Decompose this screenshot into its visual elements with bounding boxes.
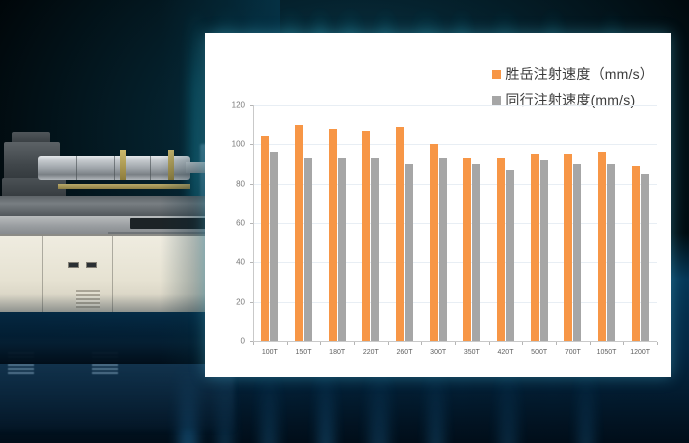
clamp-bolt	[168, 150, 174, 180]
x-tickmark	[421, 342, 422, 345]
x-axis-tick-label: 150T	[296, 349, 312, 356]
x-axis-tick-label: 700T	[565, 349, 581, 356]
y-gridline	[253, 105, 657, 106]
machine-cabinet	[0, 234, 222, 312]
x-axis-tick-label: 1200T	[630, 349, 650, 356]
bar-series-0-260T	[396, 127, 404, 341]
bar-series-1-220T	[371, 158, 379, 341]
bar-series-1-500T	[540, 160, 548, 341]
y-gridline	[253, 184, 657, 185]
x-axis-tick-label: 260T	[397, 349, 413, 356]
x-axis-tick-label: 350T	[464, 349, 480, 356]
bar-series-0-220T	[362, 131, 370, 341]
bar-series-1-260T	[405, 164, 413, 341]
x-tickmark	[657, 342, 658, 345]
x-tickmark	[556, 342, 557, 345]
cabinet-button	[68, 262, 79, 268]
x-tickmark	[354, 342, 355, 345]
x-tickmark	[287, 342, 288, 345]
y-gridline	[253, 223, 657, 224]
x-axis-tick-label: 220T	[363, 349, 379, 356]
x-axis-tick-label: 180T	[329, 349, 345, 356]
y-gridline	[253, 144, 657, 145]
cabinet-button	[86, 262, 97, 268]
x-axis-tick-label: 100T	[262, 349, 278, 356]
y-axis-tick-label: 60	[223, 219, 245, 228]
bar-series-0-500T	[531, 154, 539, 341]
bar-series-1-700T	[573, 164, 581, 341]
deck-tray	[130, 218, 210, 229]
x-tickmark	[253, 342, 254, 345]
y-axis-tick-label: 120	[223, 101, 245, 110]
x-axis-tick-label: 420T	[498, 349, 514, 356]
y-gridline	[253, 262, 657, 263]
y-axis-tick-label: 0	[223, 337, 245, 346]
bar-series-0-1200T	[632, 166, 640, 341]
bar-series-1-1050T	[607, 164, 615, 341]
bar-series-0-300T	[430, 144, 438, 341]
chart-panel: 胜岳注射速度（mm/s） 同行注射速度(mm/s) 02040608010012…	[205, 33, 671, 377]
bar-series-0-700T	[564, 154, 572, 341]
y-axis-line	[253, 105, 254, 342]
y-gridline	[253, 302, 657, 303]
lower-vent	[8, 352, 34, 374]
x-tickmark	[489, 342, 490, 345]
x-axis-tick-label: 500T	[531, 349, 547, 356]
bar-series-1-300T	[439, 158, 447, 341]
bar-series-0-150T	[295, 125, 303, 341]
clamp-bolt	[120, 150, 126, 180]
bar-series-1-420T	[506, 170, 514, 341]
y-axis-tick-label: 80	[223, 179, 245, 188]
x-axis-tick-label: 1050T	[597, 349, 617, 356]
x-tickmark	[455, 342, 456, 345]
x-tickmark	[623, 342, 624, 345]
slide-canvas: 胜岳注射速度（mm/s） 同行注射速度(mm/s) 02040608010012…	[0, 0, 689, 443]
x-tickmark	[320, 342, 321, 345]
bar-series-0-350T	[463, 158, 471, 341]
bar-series-0-1050T	[598, 152, 606, 341]
bar-series-1-150T	[304, 158, 312, 341]
bar-series-1-350T	[472, 164, 480, 341]
bar-series-0-180T	[329, 129, 337, 341]
tie-rod	[58, 184, 190, 189]
x-tickmark	[522, 342, 523, 345]
x-axis-tick-label: 300T	[430, 349, 446, 356]
bar-series-1-100T	[270, 152, 278, 341]
y-axis-tick-label: 40	[223, 258, 245, 267]
lower-vent	[92, 352, 118, 374]
bar-series-1-180T	[338, 158, 346, 341]
bar-series-1-1200T	[641, 174, 649, 341]
plot-area: 020406080100120100T150T180T220T260T300T3…	[205, 33, 671, 377]
y-axis-tick-label: 20	[223, 297, 245, 306]
y-axis-tick-label: 100	[223, 140, 245, 149]
cabinet-vent	[76, 290, 100, 308]
bar-series-0-100T	[261, 136, 269, 341]
x-tickmark	[388, 342, 389, 345]
bar-series-0-420T	[497, 158, 505, 341]
x-tickmark	[590, 342, 591, 345]
